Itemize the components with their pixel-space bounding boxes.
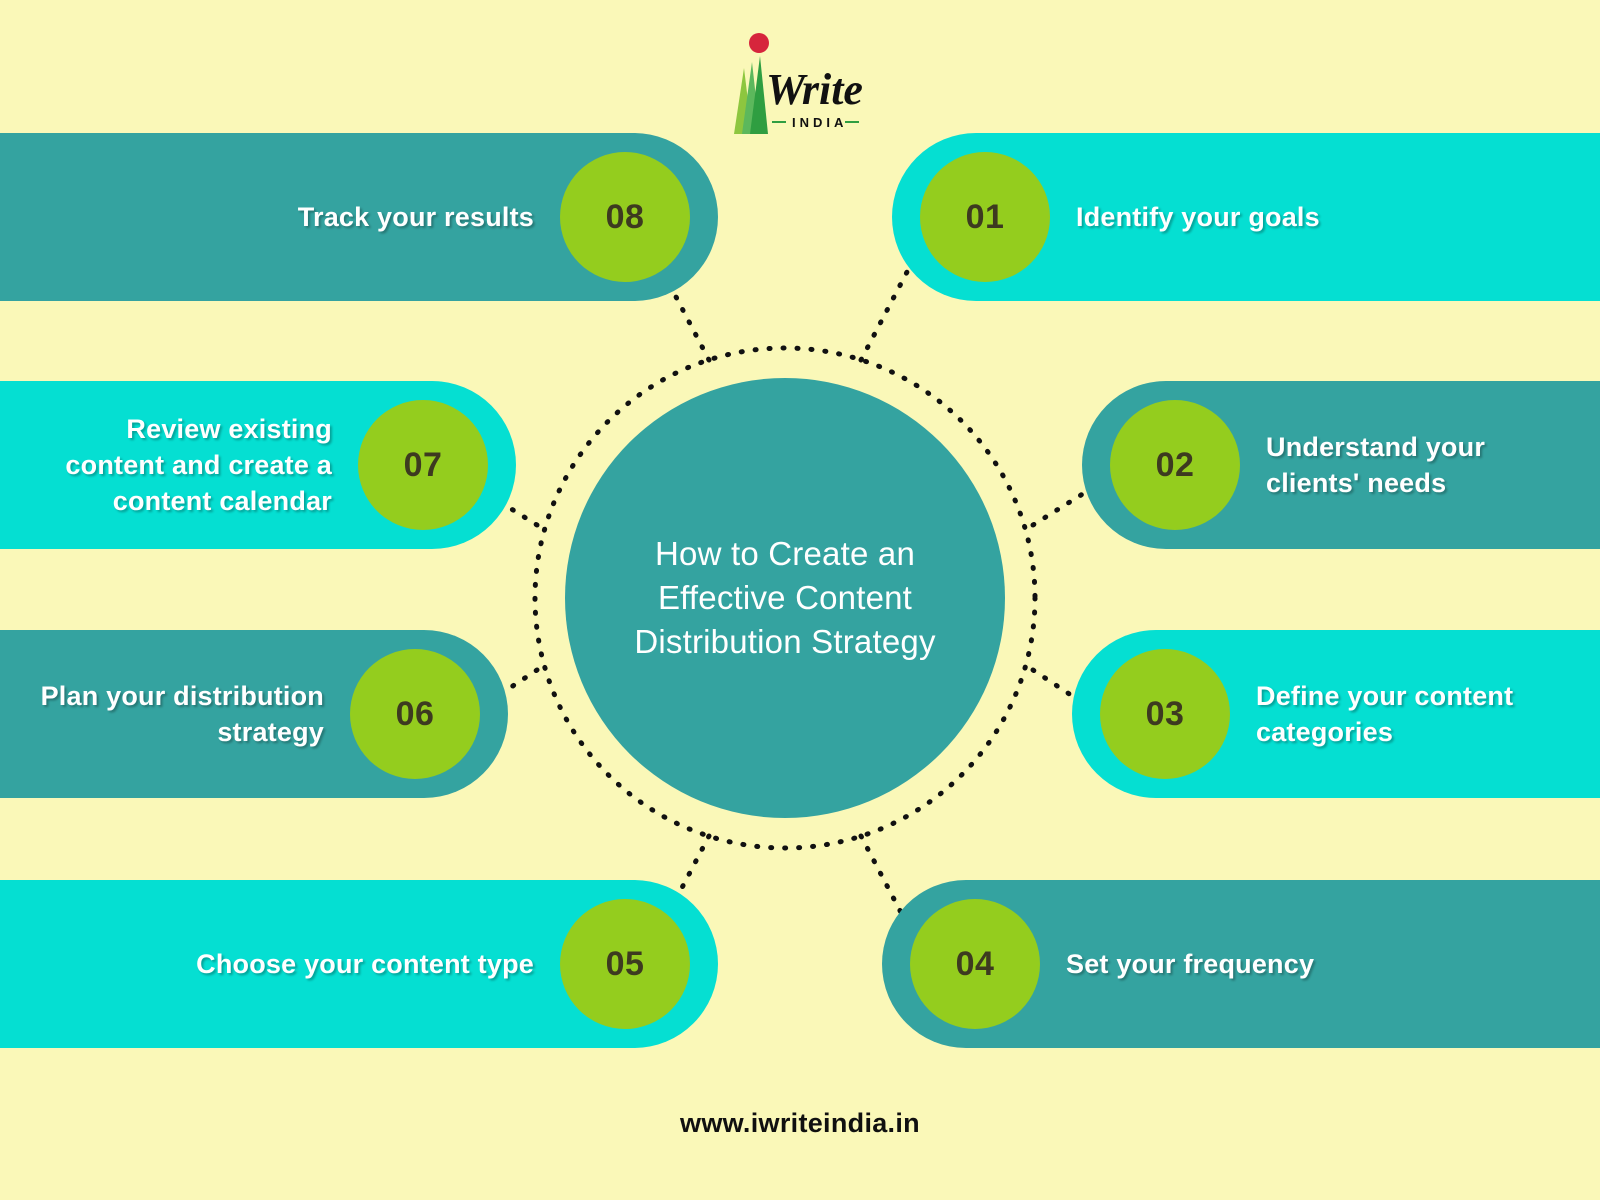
hub-title: How to Create an Effective Content Distr…	[565, 532, 1005, 664]
infographic-canvas: Write INDIA	[0, 0, 1600, 1200]
step-item-04[interactable]: 04 Set your frequency	[882, 880, 1600, 1048]
step-label-05: Choose your content type	[196, 946, 534, 982]
step-item-03[interactable]: 03 Define your content categories	[1072, 630, 1600, 798]
step-badge-03: 03	[1100, 649, 1230, 779]
step-badge-07: 07	[358, 400, 488, 530]
center-hub: How to Create an Effective Content Distr…	[565, 378, 1005, 818]
spoke-02	[1033, 490, 1089, 525]
step-item-07[interactable]: Review existing content and create a con…	[0, 381, 516, 549]
step-badge-04: 04	[910, 899, 1040, 1029]
step-label-08: Track your results	[298, 199, 534, 235]
step-badge-06: 06	[350, 649, 480, 779]
step-item-05[interactable]: Choose your content type 05	[0, 880, 718, 1048]
step-label-02: Understand your clients' needs	[1266, 429, 1516, 501]
step-item-01[interactable]: 01 Identify your goals	[892, 133, 1600, 301]
footer-url[interactable]: www.iwriteindia.in	[0, 1108, 1600, 1139]
step-label-03: Define your content categories	[1256, 678, 1556, 750]
step-badge-02: 02	[1110, 400, 1240, 530]
step-label-04: Set your frequency	[1066, 946, 1314, 982]
step-item-06[interactable]: Plan your distribution strategy 06	[0, 630, 508, 798]
step-item-08[interactable]: Track your results 08	[0, 133, 718, 301]
step-label-07: Review existing content and create a con…	[32, 411, 332, 519]
spoke-01	[861, 272, 907, 360]
step-badge-01: 01	[920, 152, 1050, 282]
step-badge-05: 05	[560, 899, 690, 1029]
step-item-02[interactable]: 02 Understand your clients' needs	[1082, 381, 1600, 549]
step-label-06: Plan your distribution strategy	[34, 678, 324, 750]
step-label-01: Identify your goals	[1076, 199, 1320, 235]
step-badge-08: 08	[560, 152, 690, 282]
